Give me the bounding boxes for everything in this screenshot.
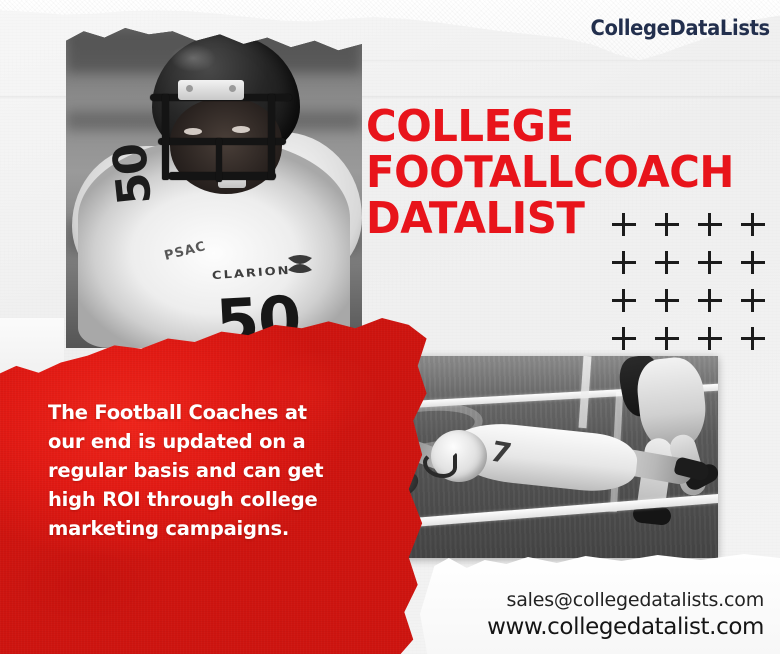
- photo-lineman-helmet-clip: [178, 80, 244, 100]
- plus-icon: [608, 208, 651, 246]
- photo-lineman-stance: 50 PSAC CLARION 50: [66, 28, 362, 348]
- plus-icon: [651, 284, 694, 322]
- plus-icon: [694, 208, 737, 246]
- photo-lineman-facemask: [146, 90, 296, 200]
- plus-icon: [651, 322, 694, 360]
- brand-logo: CollegeDataLists: [591, 16, 770, 40]
- contact-block: sales@collegedatalists.com www.collegeda…: [487, 589, 764, 640]
- facemask-bar: [162, 94, 169, 180]
- contact-email[interactable]: sales@collegedatalists.com: [487, 589, 764, 611]
- plus-icon: [608, 322, 651, 360]
- facemask-bar: [168, 172, 276, 180]
- promo-text: The Football Coaches at our end is updat…: [48, 398, 326, 543]
- plus-icon: [737, 322, 780, 360]
- plus-icon: [651, 208, 694, 246]
- plus-icon: [608, 284, 651, 322]
- plus-icon: [608, 246, 651, 284]
- photo-lineman-helmet-highlight: [170, 44, 216, 72]
- facemask-bar: [268, 94, 275, 180]
- plus-icon: [737, 208, 780, 246]
- plus-icon: [694, 246, 737, 284]
- contact-website[interactable]: www.collegedatalist.com: [487, 614, 764, 640]
- plus-icon: [651, 246, 694, 284]
- facemask-bar: [158, 138, 286, 145]
- plus-icon: [737, 246, 780, 284]
- plus-icon: [694, 322, 737, 360]
- headline-line-2: FOOTALLCOACH: [366, 150, 708, 196]
- facemask-bar: [216, 138, 222, 182]
- plus-icon: [737, 284, 780, 322]
- under-armour-logo-icon: [280, 254, 320, 274]
- plus-pattern-decoration: [608, 208, 780, 360]
- poster-canvas: CollegeDataLists 50 PSAC CLARION 50: [0, 0, 780, 654]
- paper-fold-line-secondary: [330, 60, 780, 62]
- plus-icon: [694, 284, 737, 322]
- headline-line-1: COLLEGE: [366, 104, 708, 150]
